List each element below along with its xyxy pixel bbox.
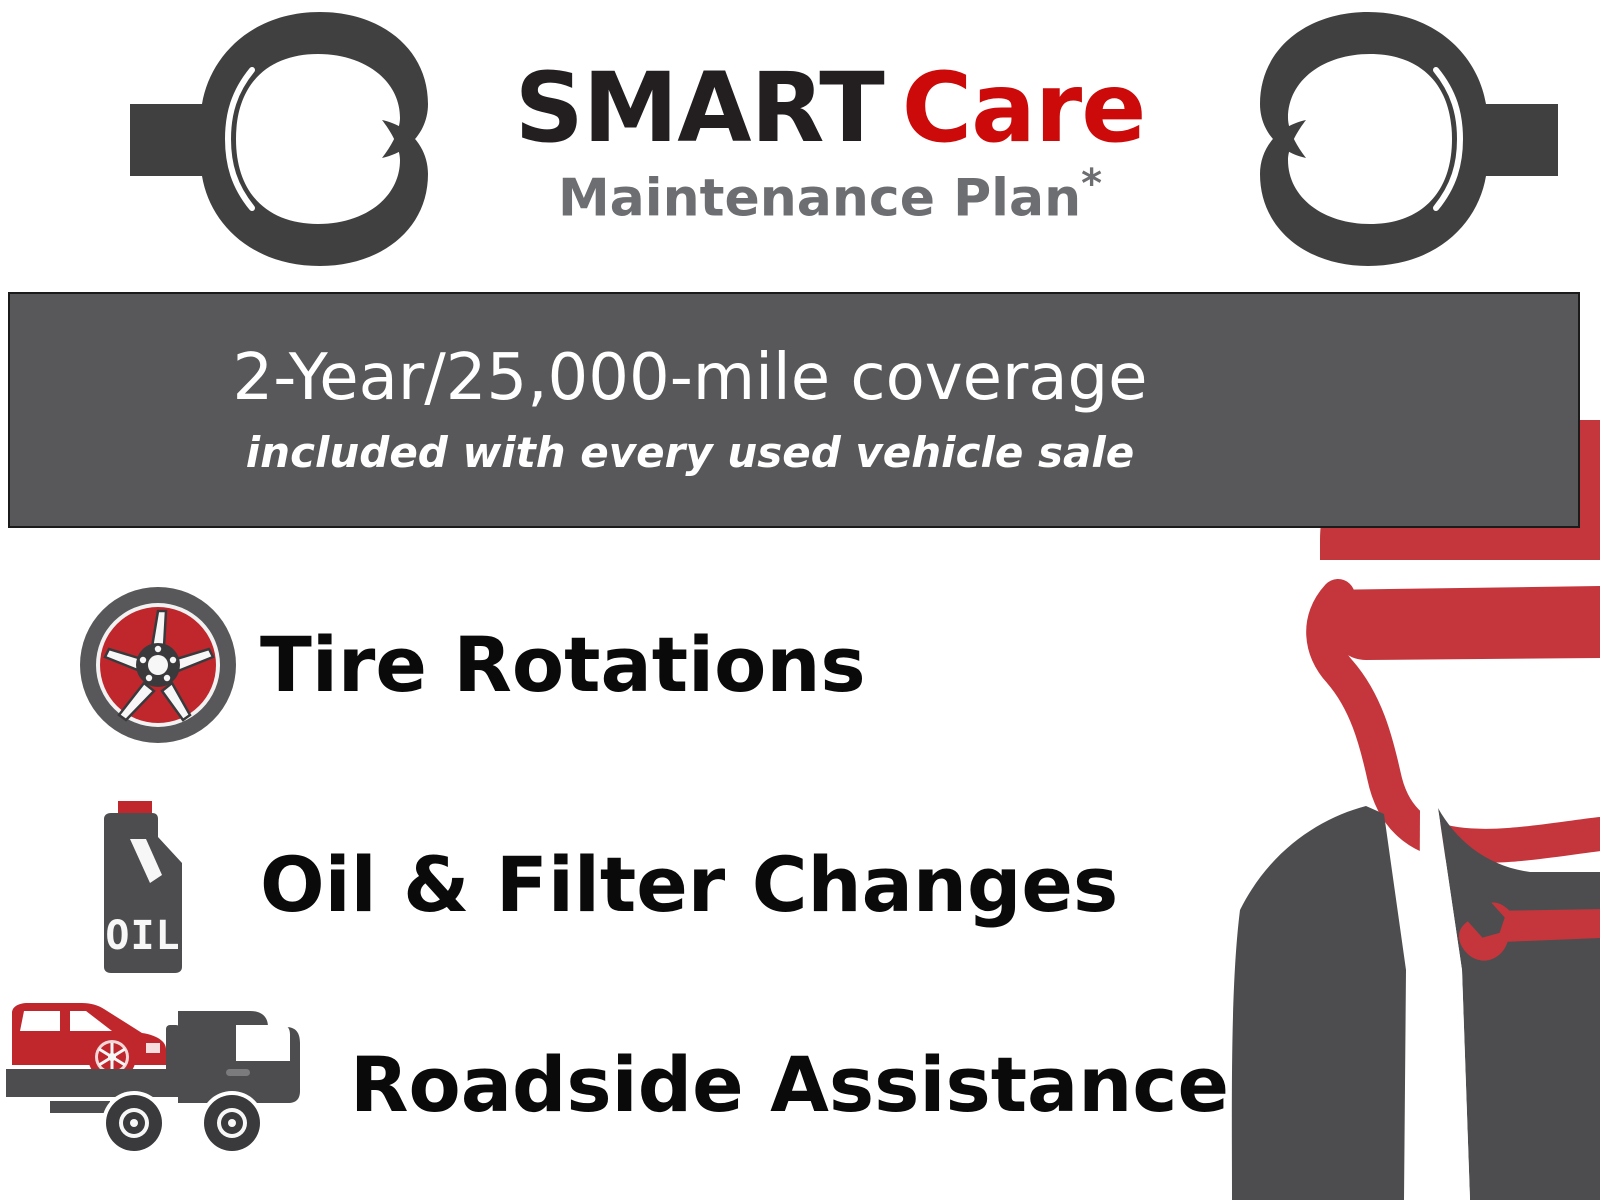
oil-bottle-label: OIL xyxy=(105,913,180,959)
tow-truck-icon xyxy=(0,995,340,1175)
list-item: OIL Oil & Filter Changes xyxy=(0,780,1180,990)
logo-subtitle: Maintenance Plan* xyxy=(430,164,1230,224)
logo-subtitle-text: Maintenance Plan xyxy=(558,168,1081,228)
coverage-banner: 2-Year/25,000-mile coverage included wit… xyxy=(8,292,1580,528)
feature-list: Tire Rotations OIL Oil & Filter Changes xyxy=(0,540,1180,1200)
coverage-banner-content: 2-Year/25,000-mile coverage included wit… xyxy=(10,294,1370,526)
wrench-icon xyxy=(118,8,448,270)
list-item: Roadside Assistance xyxy=(0,980,1180,1190)
mechanic-figure xyxy=(1170,410,1600,1200)
logo-asterisk: * xyxy=(1081,161,1102,207)
logo-header: SMARTCare Maintenance Plan* xyxy=(0,0,1600,285)
list-item: Tire Rotations xyxy=(0,560,1180,770)
cap-band xyxy=(1318,562,1600,588)
brand-name-smart: SMART xyxy=(515,52,884,164)
feature-label: Roadside Assistance xyxy=(350,1047,1229,1123)
brand-name-care: Care xyxy=(902,52,1146,164)
brand-wordmark: SMARTCare xyxy=(430,60,1230,156)
overall-left xyxy=(1232,806,1406,1200)
coverage-headline: 2-Year/25,000-mile coverage xyxy=(232,345,1147,412)
oil-bottle-icon: OIL xyxy=(0,795,260,975)
smart-care-maintenance-poster: SMARTCare Maintenance Plan* 2-Year/25,00… xyxy=(0,0,1600,1200)
tire-wheel-icon xyxy=(0,575,260,755)
cap-lower xyxy=(1322,586,1600,660)
coverage-subline: included with every used vehicle sale xyxy=(246,431,1134,475)
feature-label: Oil & Filter Changes xyxy=(260,847,1118,923)
wrench-icon xyxy=(1240,8,1570,270)
feature-label: Tire Rotations xyxy=(260,627,866,703)
logo-text-block: SMARTCare Maintenance Plan* xyxy=(430,60,1230,224)
